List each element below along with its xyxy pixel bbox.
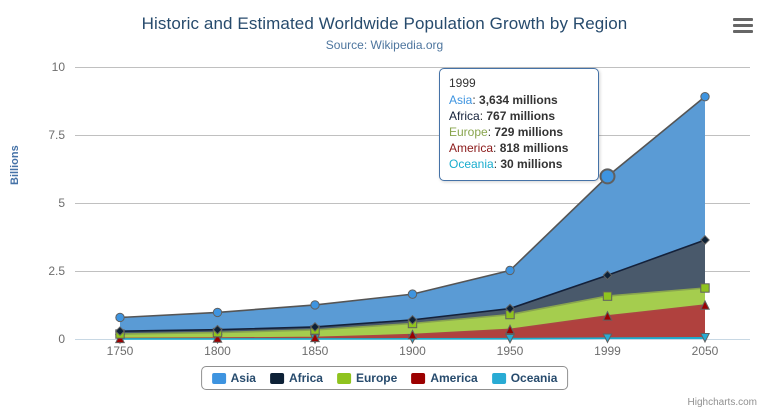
- tooltip-separator: :: [493, 141, 500, 155]
- marker-asia-1750[interactable]: [116, 313, 124, 321]
- tooltip-series-value: 3,634 millions: [479, 93, 558, 107]
- legend-swatch-icon: [337, 373, 351, 384]
- tooltip-series-name: Asia: [449, 93, 472, 107]
- legend: AsiaAfricaEuropeAmericaOceania: [201, 366, 569, 390]
- marker-europe-1999[interactable]: [603, 292, 611, 300]
- tooltip-series-value: 818 millions: [500, 141, 569, 155]
- x-axis-tick-label: 1800: [204, 344, 231, 358]
- legend-item-asia[interactable]: Asia: [212, 371, 256, 385]
- tooltip-series-name: Oceania: [449, 157, 494, 171]
- tooltip-row: Europe: 729 millions: [449, 124, 589, 140]
- legend-label: Africa: [289, 371, 323, 385]
- marker-asia-1800[interactable]: [213, 308, 221, 316]
- tooltip-separator: :: [472, 93, 479, 107]
- legend-label: Asia: [231, 371, 256, 385]
- tooltip-series-name: Europe: [449, 125, 488, 139]
- highcharts-container: Historic and Estimated Worldwide Populat…: [0, 0, 769, 416]
- legend-item-oceania[interactable]: Oceania: [492, 371, 558, 385]
- marker-asia-2050[interactable]: [701, 92, 709, 100]
- legend-item-america[interactable]: America: [411, 371, 477, 385]
- legend-swatch-icon: [270, 373, 284, 384]
- tooltip-series-value: 767 millions: [486, 109, 555, 123]
- x-axis-tick-label: 1750: [107, 344, 134, 358]
- marker-asia-1900[interactable]: [408, 290, 416, 298]
- tooltip-row: Asia: 3,634 millions: [449, 92, 589, 108]
- tooltip: 1999 Asia: 3,634 millionsAfrica: 767 mil…: [439, 68, 599, 181]
- legend-label: Oceania: [511, 371, 558, 385]
- legend-swatch-icon: [212, 373, 226, 384]
- tooltip-series-name: Africa: [449, 109, 480, 123]
- legend-item-africa[interactable]: Africa: [270, 371, 323, 385]
- legend-swatch-icon: [492, 373, 506, 384]
- x-axis-tick-label: 2050: [692, 344, 719, 358]
- y-axis-title: Billions: [9, 145, 21, 185]
- tooltip-series-name: America: [449, 141, 493, 155]
- tooltip-rows: Asia: 3,634 millionsAfrica: 767 millions…: [449, 92, 589, 172]
- tooltip-series-value: 729 millions: [494, 125, 563, 139]
- x-axis-tick-label: 1850: [302, 344, 329, 358]
- legend-swatch-icon: [411, 373, 425, 384]
- tooltip-series-value: 30 millions: [500, 157, 562, 171]
- legend-item-europe[interactable]: Europe: [337, 371, 397, 385]
- tooltip-row: Africa: 767 millions: [449, 108, 589, 124]
- credits-link[interactable]: Highcharts.com: [688, 397, 757, 408]
- legend-label: Europe: [356, 371, 397, 385]
- x-axis-tick-label: 1900: [399, 344, 426, 358]
- tooltip-header: 1999: [449, 76, 589, 90]
- marker-europe-2050[interactable]: [701, 284, 709, 292]
- tooltip-row: Oceania: 30 millions: [449, 156, 589, 172]
- x-axis-tick-label: 1999: [594, 344, 621, 358]
- marker-asia-1850[interactable]: [311, 301, 319, 309]
- tooltip-row: America: 818 millions: [449, 140, 589, 156]
- x-axis-tick-label: 1950: [497, 344, 524, 358]
- marker-asia-1999[interactable]: [601, 169, 615, 183]
- marker-asia-1950[interactable]: [506, 266, 514, 274]
- legend-label: America: [430, 371, 477, 385]
